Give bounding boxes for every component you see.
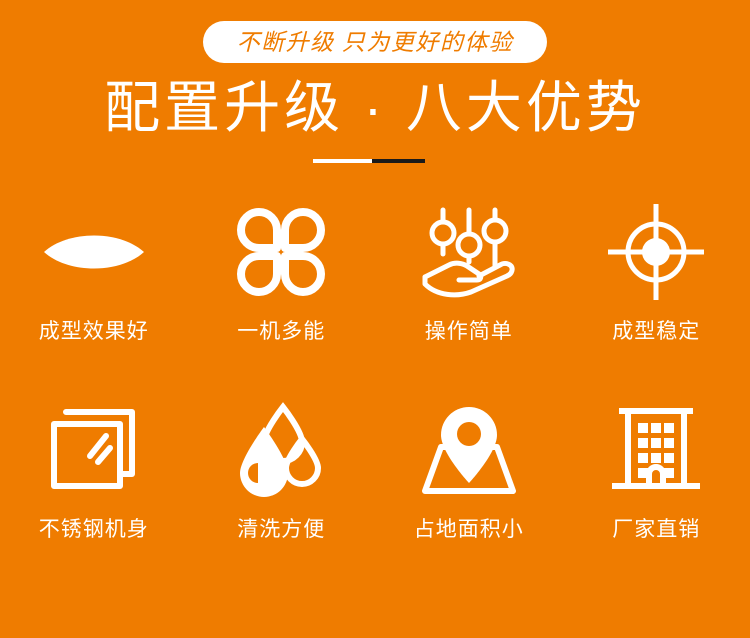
feature-label-4: 成型稳定 <box>612 320 700 344</box>
feature-item-7: 占地面积小 <box>375 398 563 558</box>
crosshair-target-icon <box>604 200 708 304</box>
title-container: 配置升级 · 八大优势 <box>0 76 750 140</box>
title-divider <box>313 159 425 163</box>
feature-label-2: 一机多能 <box>237 320 325 344</box>
feature-label-5: 不锈钢机身 <box>39 518 149 542</box>
feature-item-4: 成型稳定 <box>563 200 750 360</box>
factory-building-icon <box>604 398 708 502</box>
feature-label-1: 成型效果好 <box>39 320 149 344</box>
divider-segment-white <box>313 159 372 163</box>
feature-item-6: 清洗方便 <box>188 398 376 558</box>
hand-sliders-icon <box>417 200 521 304</box>
tagline-badge: 不断升级 只为更好的体验 <box>203 21 548 63</box>
stacked-plates-icon <box>42 398 146 502</box>
map-pin-icon <box>417 398 521 502</box>
feature-item-3: 操作简单 <box>375 200 563 360</box>
tagline-text: 不断升级 只为更好的体验 <box>237 31 514 54</box>
lens-shape-icon <box>42 200 146 304</box>
four-petal-grid-icon <box>229 200 333 304</box>
promo-poster: 不断升级 只为更好的体验 配置升级 · 八大优势 成型效果好 <box>0 0 750 638</box>
feature-item-5: 不锈钢机身 <box>0 398 188 558</box>
feature-label-6: 清洗方便 <box>237 518 325 542</box>
feature-item-1: 成型效果好 <box>0 200 188 360</box>
feature-label-8: 厂家直销 <box>612 518 700 542</box>
divider-segment-dark <box>372 159 425 163</box>
feature-label-3: 操作简单 <box>425 320 513 344</box>
feature-item-2: 一机多能 <box>188 200 376 360</box>
feature-grid: 成型效果好 一机多能 <box>0 200 750 558</box>
feature-item-8: 厂家直销 <box>563 398 750 558</box>
page-title: 配置升级 · 八大优势 <box>0 76 750 140</box>
feature-label-7: 占地面积小 <box>414 518 524 542</box>
badge-container: 不断升级 只为更好的体验 <box>0 21 750 63</box>
water-droplets-icon <box>229 398 333 502</box>
